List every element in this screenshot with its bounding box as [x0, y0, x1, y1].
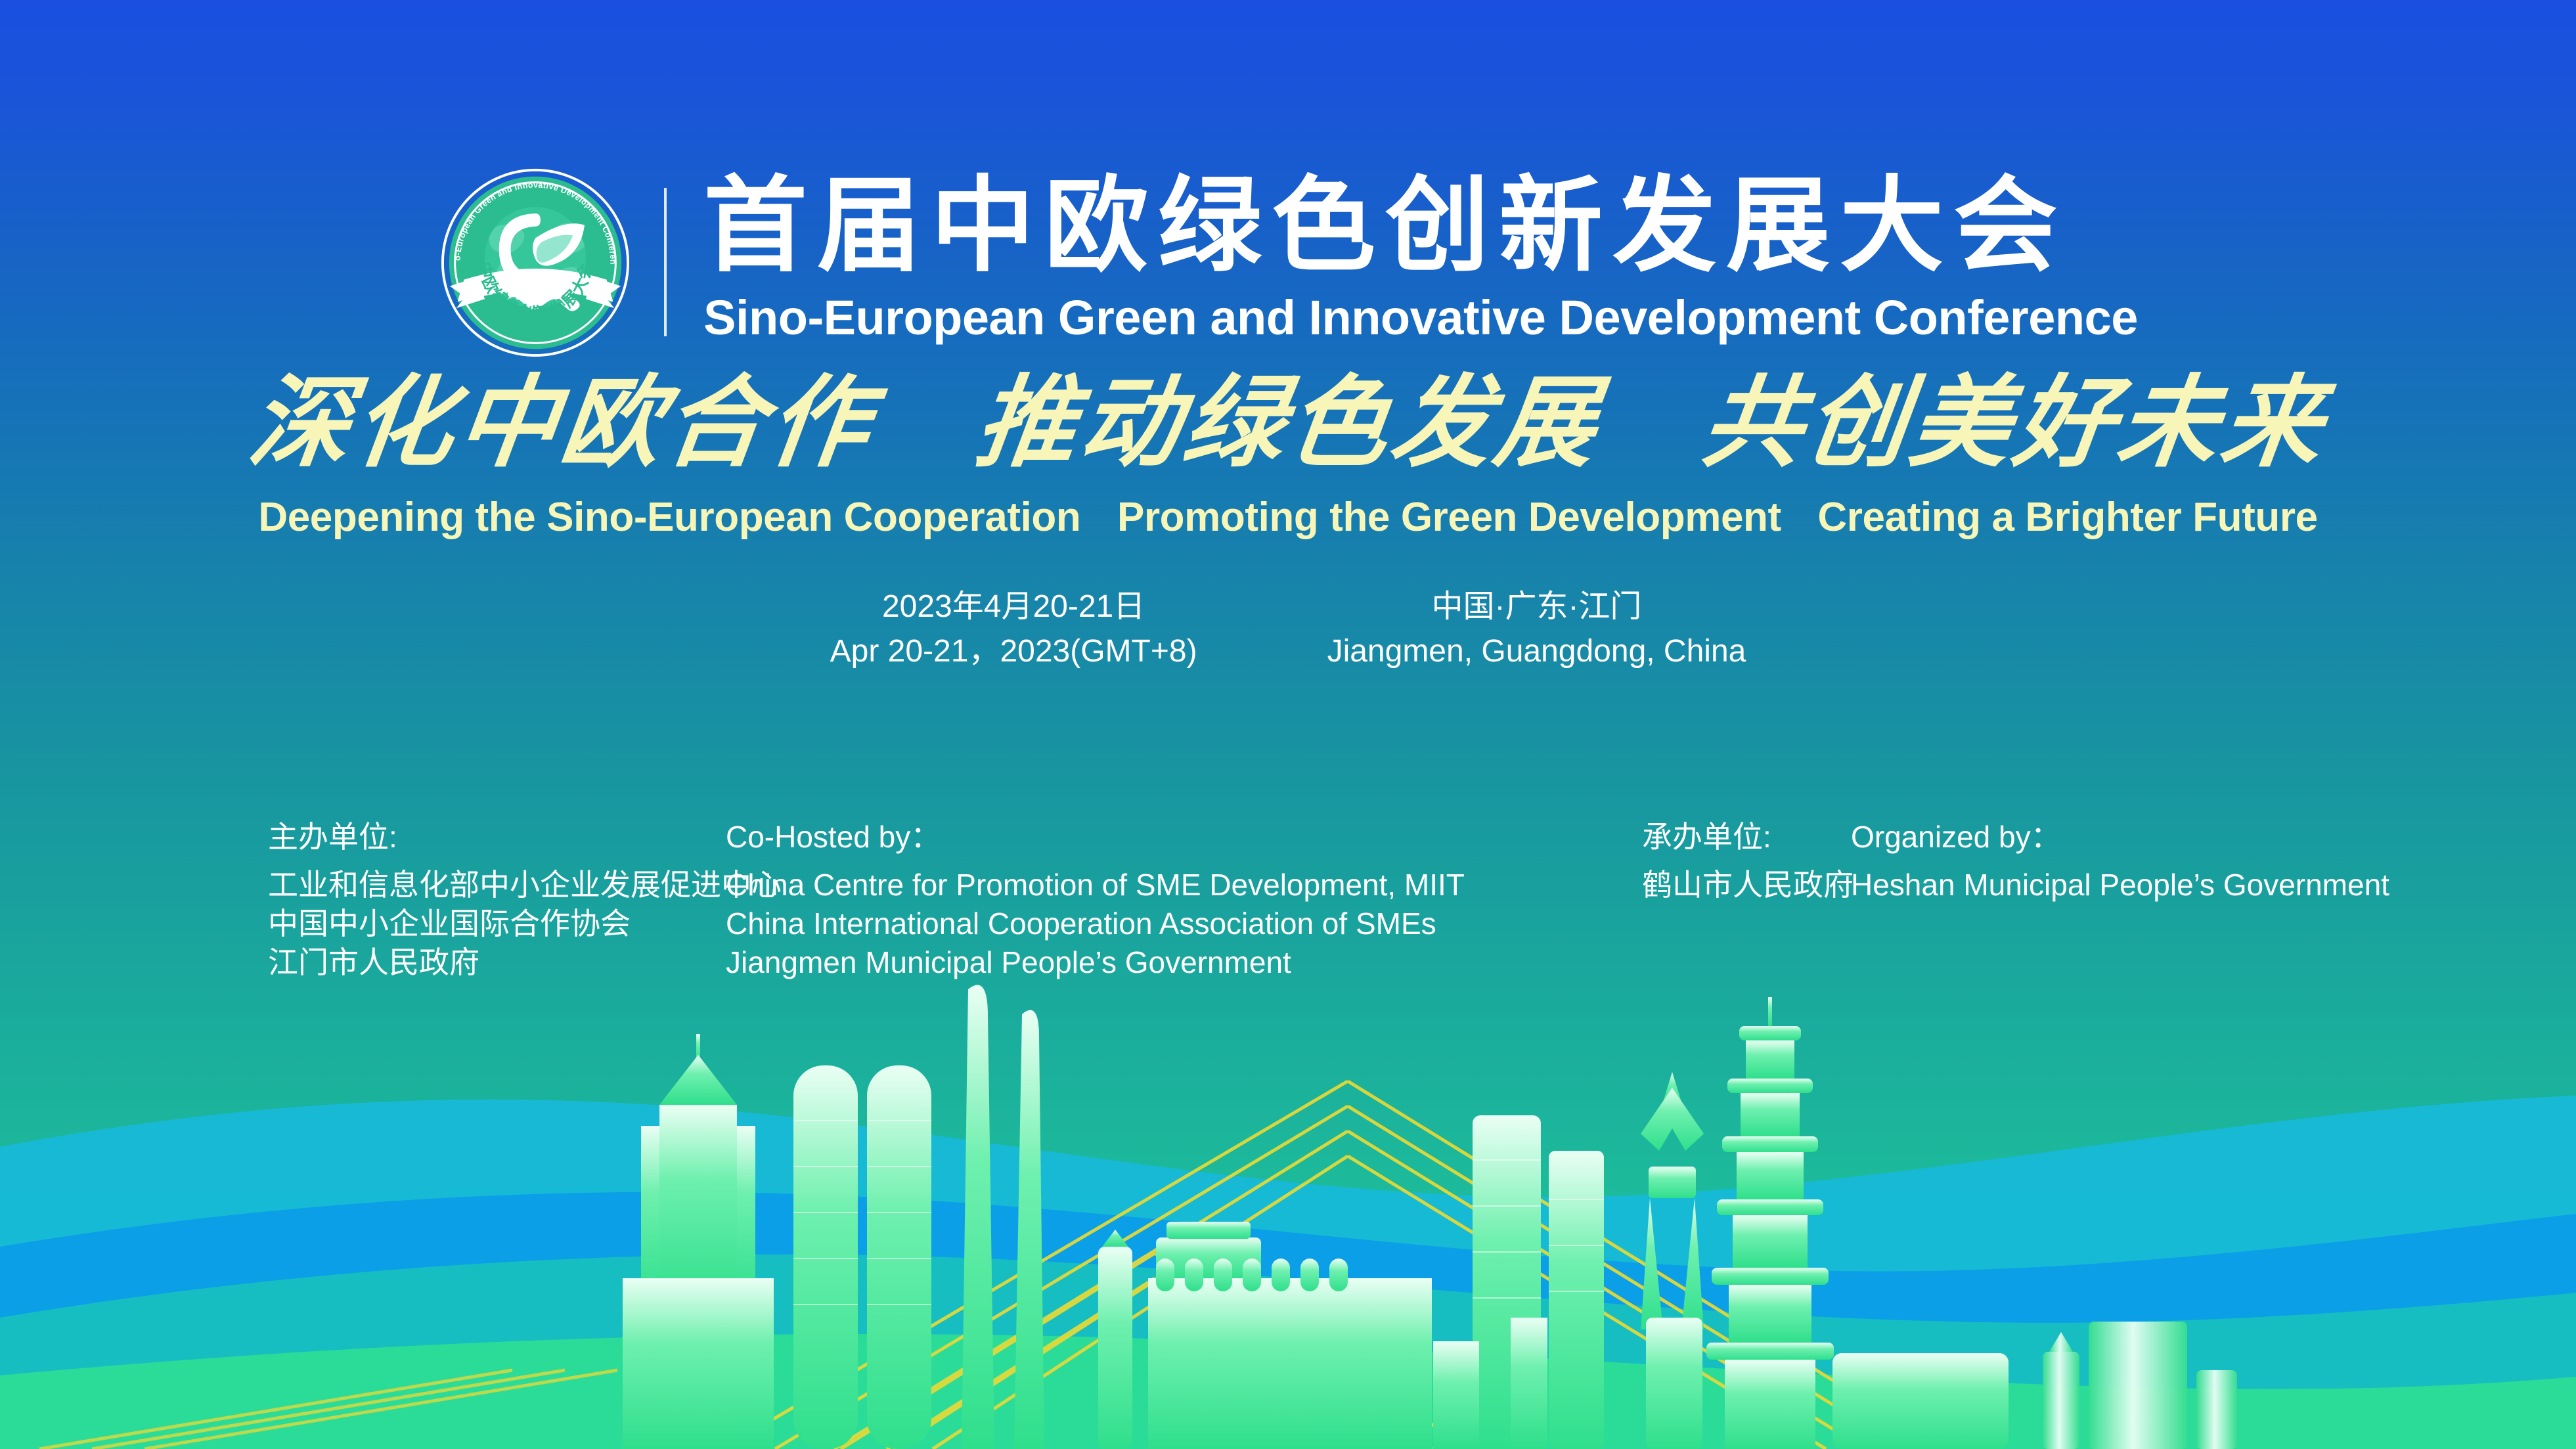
organizer-cn-block: 承办单位: 鹤山市人民政府: [1642, 818, 1854, 904]
conference-title-en: Sino-European Green and Innovative Devel…: [703, 292, 2138, 344]
slogan-block: 深化中欧合作 推动绿色发展 共创美好未来 Deepening the Sino-…: [0, 368, 2576, 541]
header-titles: 首届中欧绿色创新发展大会 Sino-European Green and Inn…: [703, 169, 2138, 344]
conference-title-cn: 首届中欧绿色创新发展大会: [703, 173, 2138, 279]
conference-emblem-logo: Sino-European Green and Innovative Devel…: [438, 166, 633, 360]
organizer-en-heading: Organized by：: [1851, 818, 2389, 857]
conference-banner: Sino-European Green and Innovative Devel…: [0, 0, 2576, 1449]
event-meta: 2023年4月20-21日 Apr 20-21，2023(GMT+8) 中国·广…: [0, 585, 2576, 674]
city-skyline-illustration: [0, 950, 2576, 1449]
event-date-cn: 2023年4月20-21日: [830, 585, 1197, 629]
slogan-en: Deepening the Sino-European Cooperation …: [0, 494, 2576, 541]
slogan-en-part2: Promoting the Green Development: [1117, 495, 1781, 540]
slogan-cn-part2: 推动绿色发展: [970, 368, 1607, 479]
banner-header: Sino-European Green and Innovative Devel…: [0, 169, 2576, 360]
event-date-en: Apr 20-21，2023(GMT+8): [830, 629, 1197, 674]
hosts-cn-block: 主办单位: 工业和信息化部中小企业发展促进中心 中国中小企业国际合作协会 江门市…: [268, 818, 782, 982]
hosts-cn-item: 工业和信息化部中小企业发展促进中心: [268, 866, 782, 904]
slogan-cn-part3: 共创美好未来: [1697, 368, 2333, 479]
hosts-en-heading: Co-Hosted by：: [726, 818, 1465, 857]
header-divider: [664, 188, 667, 336]
organizer-cn-item: 鹤山市人民政府: [1642, 866, 1854, 904]
hosts-en-item: China Centre for Promotion of SME Develo…: [726, 866, 1465, 904]
slogan-en-part1: Deepening the Sino-European Cooperation: [258, 495, 1080, 540]
hosts-en-item: China International Cooperation Associat…: [726, 904, 1465, 943]
slogan-en-part3: Creating a Brighter Future: [1817, 495, 2317, 540]
slogan-cn: 深化中欧合作 推动绿色发展 共创美好未来: [0, 368, 2576, 479]
event-date: 2023年4月20-21日 Apr 20-21，2023(GMT+8): [830, 585, 1197, 674]
organizer-en-item: Heshan Municipal People’s Government: [1851, 866, 2389, 904]
organizer-cn-heading: 承办单位:: [1642, 818, 1854, 857]
hosts-cn-item: 中国中小企业国际合作协会: [268, 904, 782, 943]
hosts-en-item: Jiangmen Municipal People’s Government: [726, 943, 1465, 982]
hosts-cn-heading: 主办单位:: [268, 818, 782, 857]
event-location: 中国·广东·江门 Jiangmen, Guangdong, China: [1327, 585, 1746, 674]
event-location-en: Jiangmen, Guangdong, China: [1327, 629, 1746, 674]
event-location-cn: 中国·广东·江门: [1327, 585, 1746, 629]
slogan-cn-part1: 深化中欧合作: [244, 368, 880, 479]
hosts-en-block: Co-Hosted by： China Centre for Promotion…: [726, 818, 1465, 982]
hosts-cn-item: 江门市人民政府: [268, 943, 782, 982]
organizer-en-block: Organized by： Heshan Municipal People’s …: [1851, 818, 2389, 904]
